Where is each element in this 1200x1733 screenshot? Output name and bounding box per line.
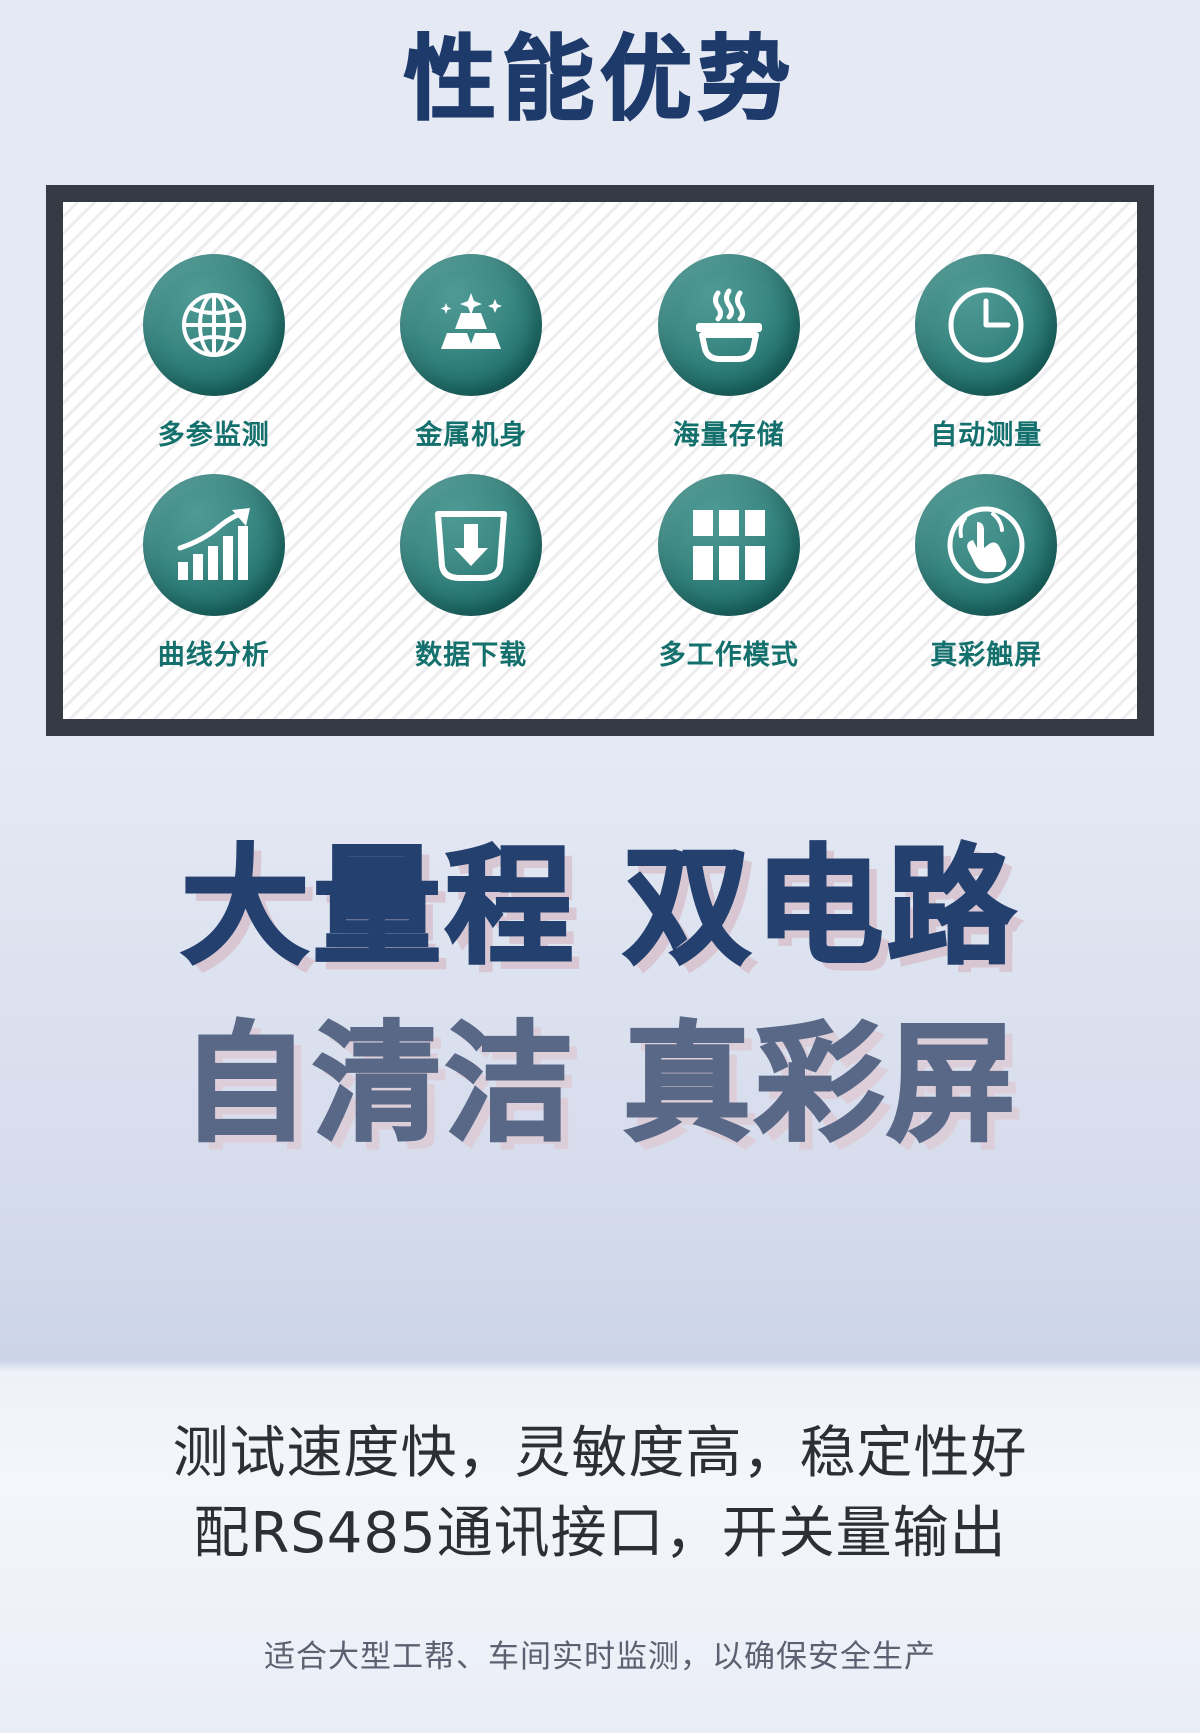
page-title: 性能优势 — [0, 34, 1200, 126]
feature-label: 数据下载 — [415, 633, 527, 672]
headline-line-1: 大量程双电路 — [0, 820, 1200, 997]
steam-pot-icon — [658, 254, 800, 396]
globe-icon — [143, 254, 285, 396]
metal-ingots-icon — [400, 254, 542, 396]
feature-row-1: 多参监测 — [85, 254, 1115, 452]
feature-label: 多参监测 — [158, 413, 270, 452]
feature-label: 金属机身 — [415, 413, 527, 452]
headline-line2-part2: 真彩屏 — [623, 1010, 1019, 1159]
feature-panel-frame: 多参监测 — [46, 185, 1154, 736]
download-tray-icon — [400, 474, 542, 616]
headline-line-2: 自清洁真彩屏 — [0, 997, 1200, 1174]
feature-label: 曲线分析 — [158, 633, 270, 672]
feature-item-touch-screen[interactable]: 真彩触屏 — [871, 474, 1101, 672]
bar-chart-trend-icon — [143, 474, 285, 616]
clock-icon — [915, 254, 1057, 396]
page-title-wrapper: 性能优势 — [0, 34, 1200, 126]
feature-item-data-download[interactable]: 数据下载 — [356, 474, 586, 672]
feature-item-metal-body[interactable]: 金属机身 — [356, 254, 586, 452]
feature-label: 多工作模式 — [659, 633, 799, 672]
feature-panel-inner: 多参监测 — [63, 202, 1137, 719]
footer-copy-block: 测试速度快，灵敏度高，稳定性好 配RS485通讯接口，开关量输出 适合大型工帮、… — [0, 1372, 1200, 1733]
feature-row-2: 曲线分析 数据下载 — [85, 474, 1115, 672]
feature-item-globe[interactable]: 多参监测 — [99, 254, 329, 452]
touch-screen-icon — [915, 474, 1057, 616]
feature-label: 真彩触屏 — [930, 633, 1042, 672]
feature-item-work-modes[interactable]: 多工作模式 — [614, 474, 844, 672]
headline-line2-part1: 自清洁 — [181, 1010, 577, 1159]
feature-item-storage[interactable]: 海量存储 — [614, 254, 844, 452]
footer-line-2: 配RS485通讯接口，开关量输出 — [0, 1494, 1200, 1574]
footer-line-1: 测试速度快，灵敏度高，稳定性好 — [0, 1414, 1200, 1494]
page-root: 性能优势 — [0, 0, 1200, 1733]
feature-label: 自动测量 — [930, 413, 1042, 452]
feature-item-auto-measure[interactable]: 自动测量 — [871, 254, 1101, 452]
feature-item-curve-analysis[interactable]: 曲线分析 — [99, 474, 329, 672]
feature-label: 海量存储 — [673, 413, 785, 452]
headline-block: 大量程双电路 自清洁真彩屏 — [0, 820, 1200, 1173]
headline-line1-part2: 双电路 — [623, 833, 1019, 982]
grid-modes-icon — [658, 474, 800, 616]
footer-subnote: 适合大型工帮、车间实时监测，以确保安全生产 — [0, 1631, 1200, 1676]
headline-line1-part1: 大量程 — [181, 833, 577, 982]
